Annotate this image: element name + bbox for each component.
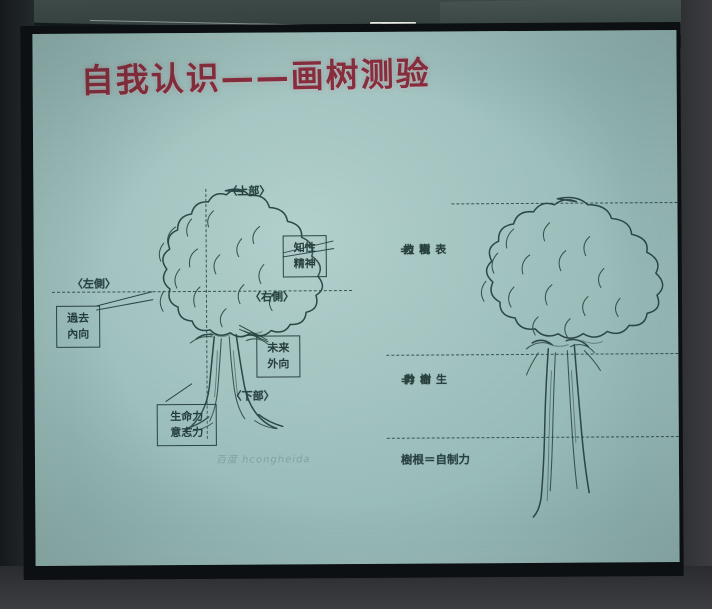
screenshot-root: 自我认识——画树测验 [0, 0, 712, 609]
projection-screen: 自我认识——画树测验 [32, 30, 679, 566]
wall-right [681, 0, 712, 609]
screen-vignette [32, 30, 679, 566]
